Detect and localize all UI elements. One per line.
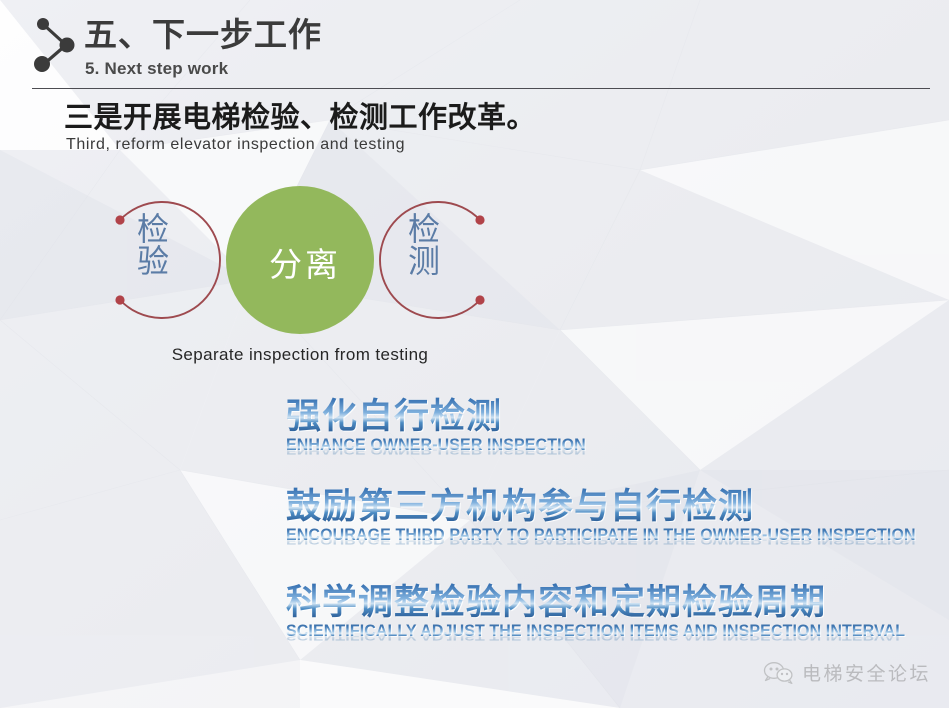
header-title-cn: 五、下一步工作 <box>84 16 322 55</box>
right-label-char-1: 检 <box>393 214 455 246</box>
bullet-1-cn: 强化自行检测 <box>286 388 595 439</box>
header-title-en: 5. Next step work <box>85 59 228 79</box>
diagram-caption: Separate inspection from testing <box>95 345 505 365</box>
watermark: 电梯安全论坛 <box>763 659 931 686</box>
section-title-en: Third, reform elevator inspection and te… <box>66 136 405 154</box>
bullet-3-cn: 科学调整检验内容和定期检验周期 <box>286 574 924 625</box>
left-label-char-2: 验 <box>122 246 184 278</box>
left-label-char-1: 检 <box>122 214 184 246</box>
wechat-icon <box>763 661 793 685</box>
diagram-center-label: 分离 <box>230 238 380 286</box>
section-title-cn: 三是开展电梯检验、检测工作改革。 <box>64 94 536 136</box>
slide-header: 五、下一步工作 5. Next step work <box>0 0 949 92</box>
watermark-text: 电梯安全论坛 <box>802 659 931 686</box>
separation-diagram: 检 验 分离 检 测 Separate inspection from test… <box>95 180 505 380</box>
bullet-block-2: 鼓励第三方机构参与自行检测 ENCOURAGE THIRD PARTY TO P… <box>286 478 935 565</box>
bullet-3-reflection: SCIENTIFICALLY ADJUST THE INSPECTION ITE… <box>286 630 905 642</box>
bullet-block-1: 强化自行检测 ENHANCE OWNER-USER INSPECTION ENH… <box>286 388 595 475</box>
bullet-2-cn: 鼓励第三方机构参与自行检测 <box>286 478 935 529</box>
diagram-right-label: 检 测 <box>393 214 455 277</box>
bullet-1-reflection: ENHANCE OWNER-USER INSPECTION <box>286 444 586 456</box>
bullet-block-3: 科学调整检验内容和定期检验周期 SCIENTIFICALLY ADJUST TH… <box>286 574 924 661</box>
node-network-icon <box>26 14 88 76</box>
right-label-char-2: 测 <box>393 246 455 278</box>
diagram-left-label: 检 验 <box>122 214 184 277</box>
header-divider <box>32 88 930 89</box>
slide-canvas: 五、下一步工作 5. Next step work 三是开展电梯检验、检测工作改… <box>0 0 949 708</box>
bullet-2-reflection: ENCOURAGE THIRD PARTY TO PARTICIPATE IN … <box>286 534 916 546</box>
